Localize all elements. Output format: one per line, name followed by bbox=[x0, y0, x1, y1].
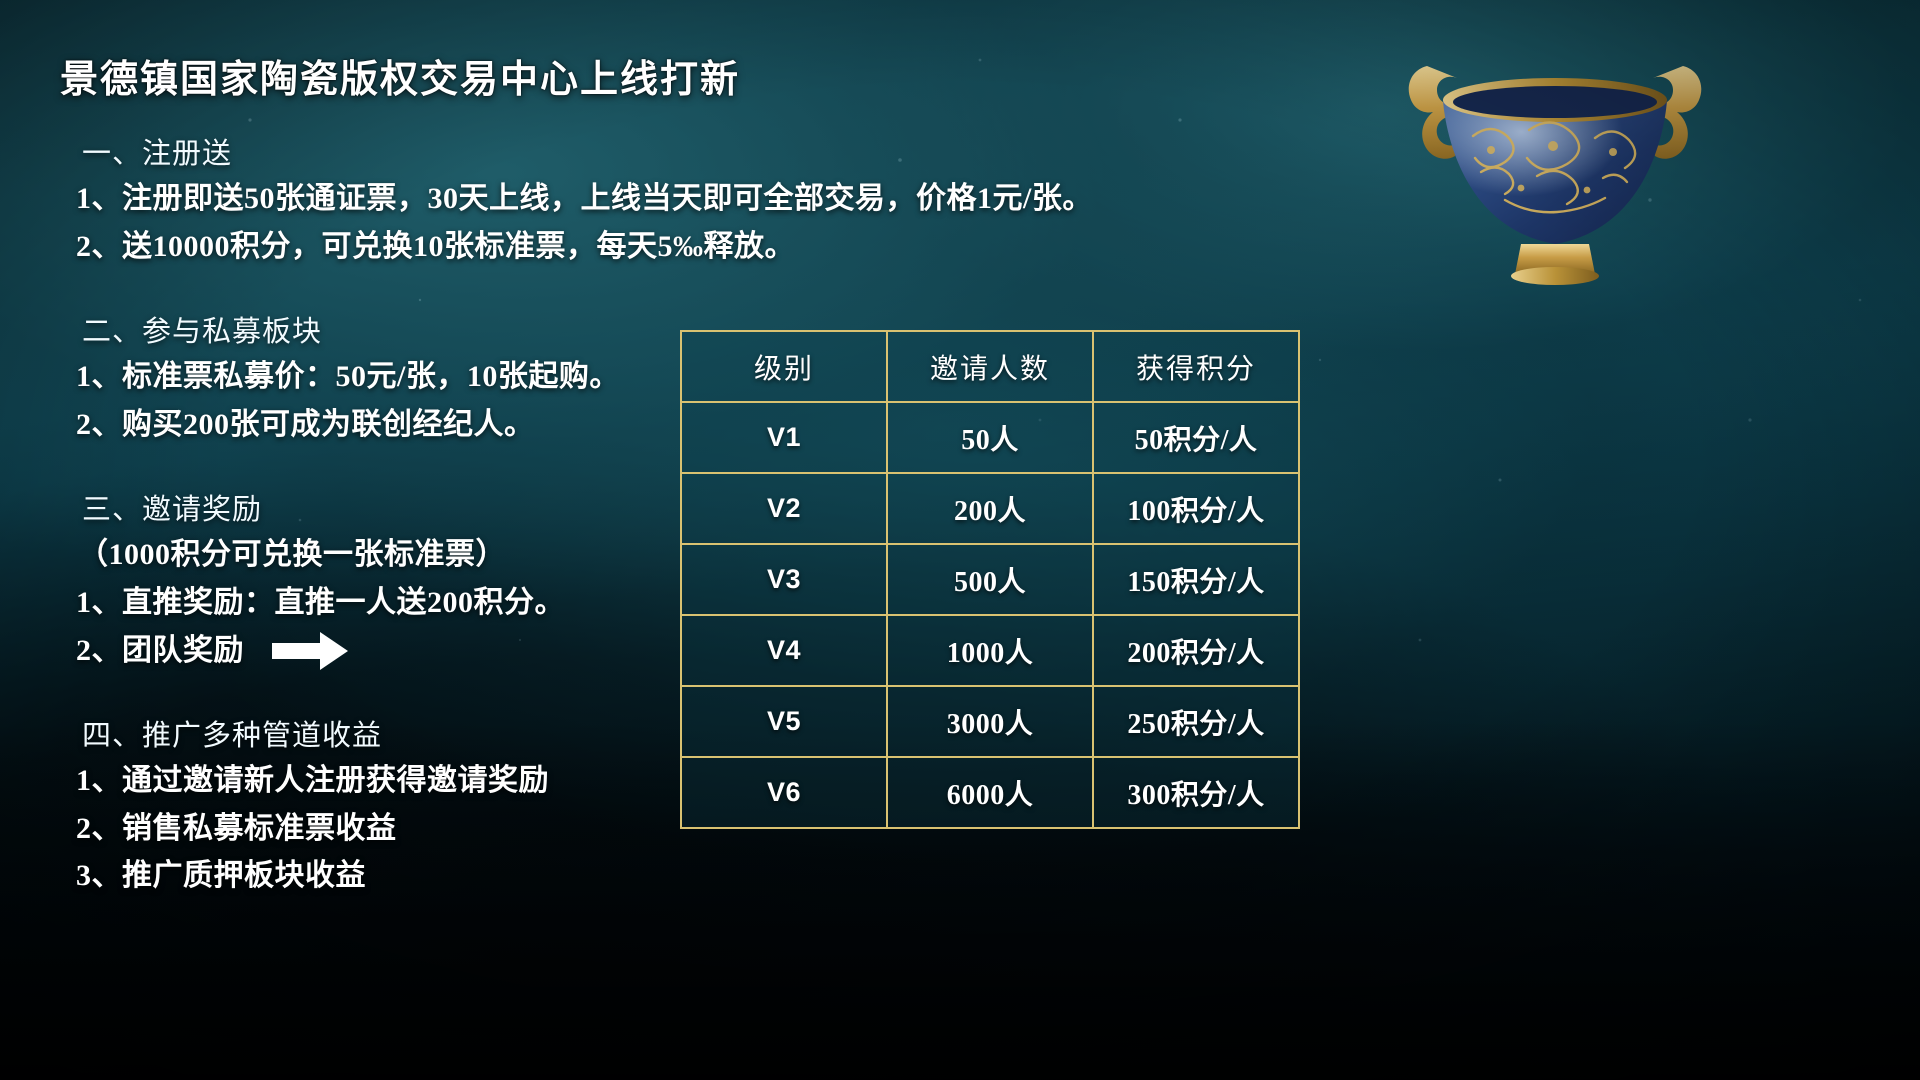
table-row: V2 200人 100积分/人 bbox=[681, 473, 1299, 544]
table-cell-invites: 200人 bbox=[887, 473, 1093, 544]
table-header-cell: 邀请人数 bbox=[887, 331, 1093, 402]
slide-canvas: 景德镇国家陶瓷版权交易中心上线打新 一、注册送 1、注册即送50张通证票，30天… bbox=[0, 0, 1920, 1080]
table-row: V6 6000人 300积分/人 bbox=[681, 757, 1299, 828]
section-register-bonus: 一、注册送 1、注册即送50张通证票，30天上线，上线当天即可全部交易，价格1元… bbox=[60, 130, 1120, 268]
table-cell-invites: 1000人 bbox=[887, 615, 1093, 686]
table-cell-points: 150积分/人 bbox=[1093, 544, 1299, 615]
section-item: 3、推广质押板块收益 bbox=[76, 855, 1120, 898]
table-cell-invites: 500人 bbox=[887, 544, 1093, 615]
table-cell-level: V1 bbox=[681, 402, 887, 473]
right-arrow-icon bbox=[270, 630, 350, 672]
section-item: 1、注册即送50张通证票，30天上线，上线当天即可全部交易，价格1元/张。 bbox=[76, 178, 1120, 221]
table-cell-level: V6 bbox=[681, 757, 887, 828]
section-heading: 一、注册送 bbox=[82, 130, 1120, 172]
table-header-row: 级别 邀请人数 获得积分 bbox=[681, 331, 1299, 402]
porcelain-bowl-image bbox=[1355, 30, 1755, 320]
table-cell-invites: 3000人 bbox=[887, 686, 1093, 757]
section-item: 2、送10000积分，可兑换10张标准票，每天5‰释放。 bbox=[76, 226, 1120, 269]
table-cell-invites: 6000人 bbox=[887, 757, 1093, 828]
table-cell-points: 100积分/人 bbox=[1093, 473, 1299, 544]
table-row: V5 3000人 250积分/人 bbox=[681, 686, 1299, 757]
table-row: V3 500人 150积分/人 bbox=[681, 544, 1299, 615]
table-row: V4 1000人 200积分/人 bbox=[681, 615, 1299, 686]
reward-tier-table: 级别 邀请人数 获得积分 V1 50人 50积分/人 V2 200人 100积分… bbox=[680, 330, 1300, 829]
table-cell-points: 250积分/人 bbox=[1093, 686, 1299, 757]
section-item-label: 2、团队奖励 bbox=[76, 630, 244, 673]
table-cell-points: 200积分/人 bbox=[1093, 615, 1299, 686]
table-cell-points: 50积分/人 bbox=[1093, 402, 1299, 473]
table-cell-points: 300积分/人 bbox=[1093, 757, 1299, 828]
table-header-cell: 获得积分 bbox=[1093, 331, 1299, 402]
table-cell-level: V3 bbox=[681, 544, 887, 615]
spacer bbox=[60, 278, 1120, 308]
table-row: V1 50人 50积分/人 bbox=[681, 402, 1299, 473]
table-cell-level: V5 bbox=[681, 686, 887, 757]
table-header-cell: 级别 bbox=[681, 331, 887, 402]
table-cell-invites: 50人 bbox=[887, 402, 1093, 473]
table-cell-level: V4 bbox=[681, 615, 887, 686]
table-cell-level: V2 bbox=[681, 473, 887, 544]
page-title: 景德镇国家陶瓷版权交易中心上线打新 bbox=[60, 48, 740, 103]
